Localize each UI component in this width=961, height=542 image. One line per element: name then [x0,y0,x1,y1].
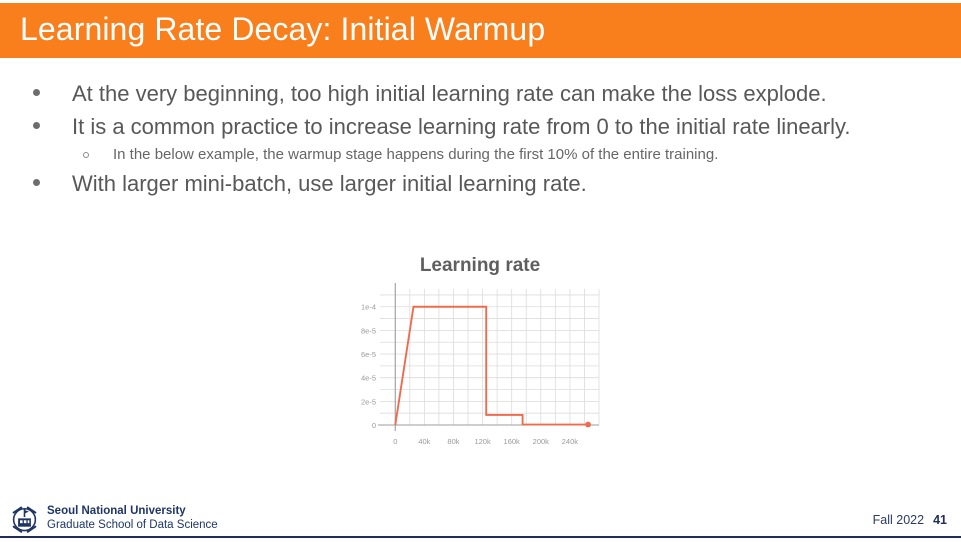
svg-text:2e-5: 2e-5 [361,397,376,406]
svg-text:6e-5: 6e-5 [361,350,376,359]
footer-text-block: Seoul National University Graduate Schoo… [47,505,218,532]
chart-title: Learning rate [352,255,608,277]
page-title: Learning Rate Decay: Initial Warmup [20,11,545,48]
chart-axes [378,283,599,431]
page-number: 41 [933,513,947,527]
snu-crest-logo-icon [8,503,41,535]
bullet-text: At the very beginning, too high initial … [72,78,827,109]
chart-y-tick-labels: 02e-54e-56e-58e-51e-4 [361,303,376,430]
bullet-item: It is a common practice to increase lear… [0,111,961,142]
svg-text:0: 0 [372,421,376,430]
term-label: Fall 2022 [873,513,924,527]
bullet-item: With larger mini-batch, use larger initi… [0,168,961,199]
bullet-disc-icon [33,89,40,96]
svg-text:0: 0 [393,437,397,446]
bullet-disc-icon [33,122,40,129]
bullet-disc-icon [33,179,40,186]
footer-branding: Seoul National University Graduate Schoo… [8,503,218,535]
svg-text:8e-5: 8e-5 [361,326,376,335]
sub-bullet-text: In the below example, the warmup stage h… [113,144,718,166]
chart-plot: 02e-54e-56e-58e-51e-4 040k80k120k160k200… [352,283,608,458]
sub-bullet-item: In the below example, the warmup stage h… [0,144,961,166]
bullet-text: With larger mini-batch, use larger initi… [72,168,587,199]
bullet-item: At the very beginning, too high initial … [0,78,961,109]
chart-x-tick-labels: 040k80k120k160k200k240k [393,437,578,446]
svg-text:80k: 80k [447,437,459,446]
bullet-text: It is a common practice to increase lear… [72,111,851,142]
bullet-list: At the very beginning, too high initial … [0,78,961,201]
svg-text:120k: 120k [474,437,491,446]
footer-meta: Fall 2022 41 [873,513,947,527]
footer-divider [0,536,961,538]
university-name: Seoul National University [47,505,218,519]
svg-text:4e-5: 4e-5 [361,374,376,383]
svg-text:1e-4: 1e-4 [361,303,376,312]
svg-text:160k: 160k [504,437,521,446]
school-name: Graduate School of Data Science [47,519,218,533]
slide-title-bar: Learning Rate Decay: Initial Warmup [0,3,961,58]
bullet-circle-icon [83,152,89,158]
learning-rate-chart: Learning rate 02e-54e-56e-58e-51e-4 040k… [352,255,608,455]
svg-text:240k: 240k [562,437,579,446]
slide-canvas: Learning Rate Decay: Initial Warmup At t… [0,0,961,542]
svg-text:40k: 40k [418,437,430,446]
svg-text:200k: 200k [533,437,550,446]
